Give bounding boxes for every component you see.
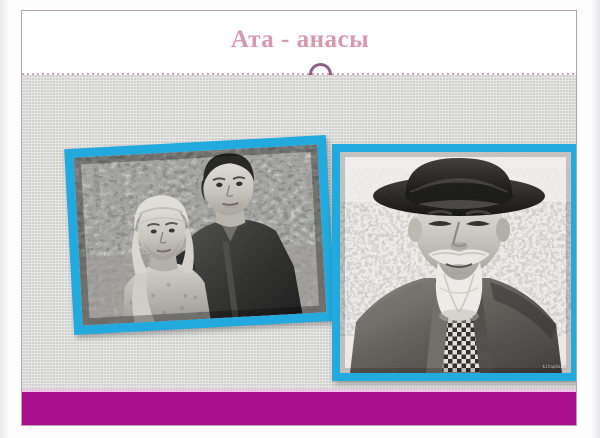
presentation-slide: Ата - анасы (21, 10, 577, 426)
photo-watermark: kitaphana (543, 364, 566, 369)
slide-viewer: Ата - анасы (0, 0, 600, 438)
slide-title-band: Ата - анасы (22, 11, 577, 75)
photo-parents-image (74, 145, 327, 326)
photo-grandfather-artwork (340, 152, 571, 373)
photo-grandfather[interactable]: kitaphana (332, 144, 577, 381)
photo-parents[interactable] (64, 135, 336, 335)
page-title: Ата - анасы (22, 26, 577, 54)
photo-parents-artwork (74, 145, 327, 326)
slide-accent-band (22, 389, 577, 425)
photo-grandfather-image: kitaphana (340, 152, 571, 373)
